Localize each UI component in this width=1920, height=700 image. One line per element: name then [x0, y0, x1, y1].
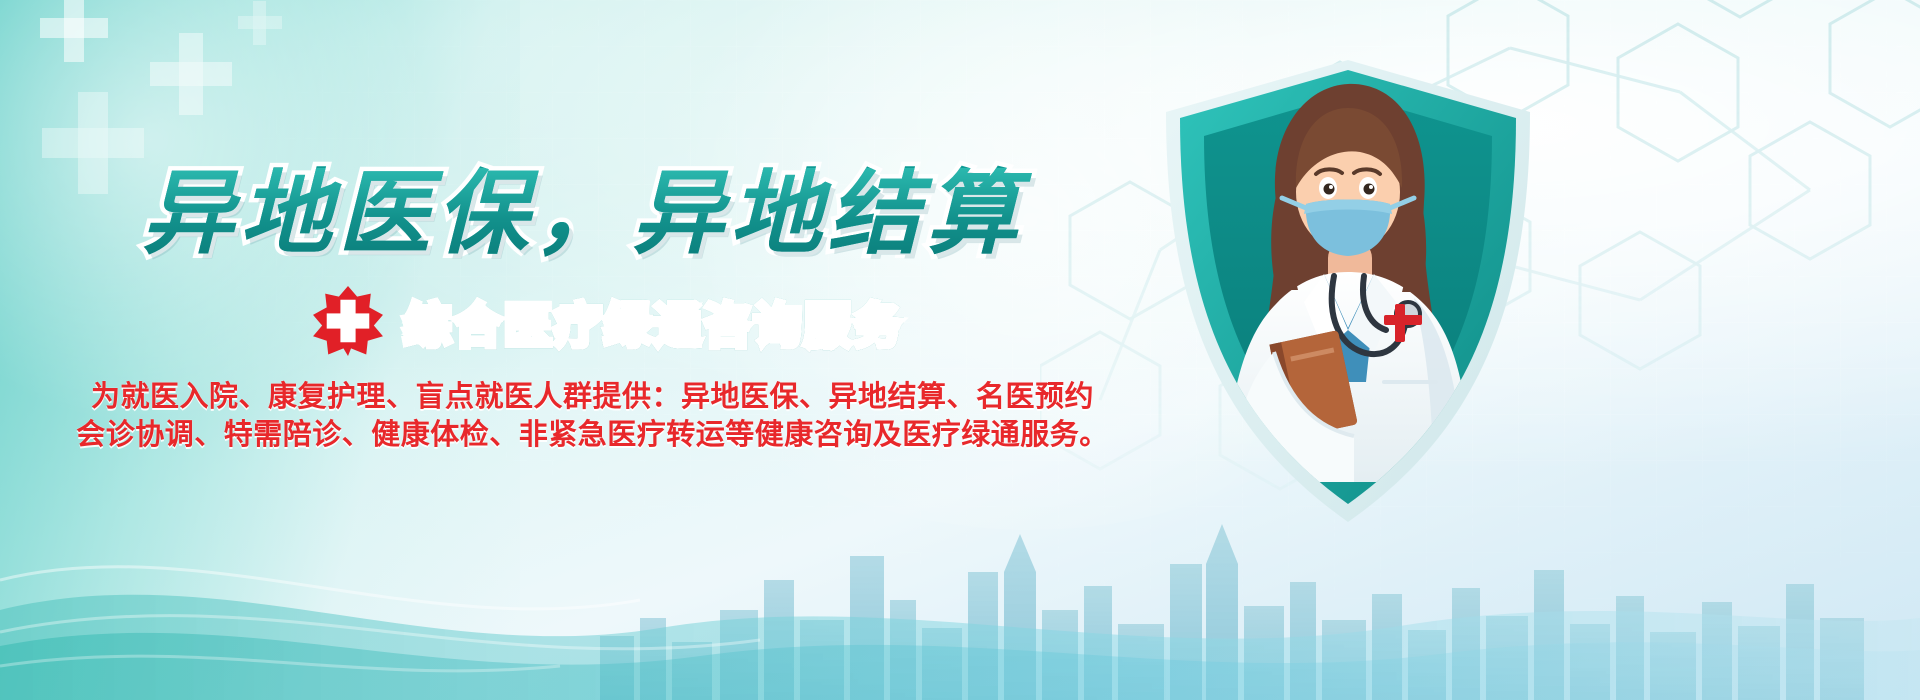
page-title: 异地医保，异地结算: [142, 168, 1082, 260]
subtitle-row: 综合医疗绿通咨询服务综合医疗绿通咨询服务: [310, 283, 904, 359]
banner-subtitle: 综合医疗绿通咨询服务: [404, 287, 904, 356]
promo-banner: 异地医保，异地结算 异地医保，异地结算 综合医疗绿通咨询服务综合医疗绿通咨询服务…: [0, 0, 1920, 700]
shield-badge-icon: [1148, 52, 1548, 522]
description-block: 为就医入院、康复护理、盲点就医人群提供：异地医保、异地结算、名医预约 会诊协调、…: [0, 378, 1185, 455]
banner-subtitle-outline: 综合医疗绿通咨询服务综合医疗绿通咨询服务: [404, 287, 904, 356]
description-line-2: 会诊协调、特需陪诊、健康体检、非紧急医疗转运等健康咨询及医疗绿通服务。: [0, 416, 1185, 454]
banner-content: 异地医保，异地结算 异地医保，异地结算 综合医疗绿通咨询服务综合医疗绿通咨询服务…: [0, 0, 1140, 700]
description-line-1: 为就医入院、康复护理、盲点就医人群提供：异地医保、异地结算、名医预约: [0, 378, 1185, 416]
medical-cross-icon: [310, 283, 386, 359]
